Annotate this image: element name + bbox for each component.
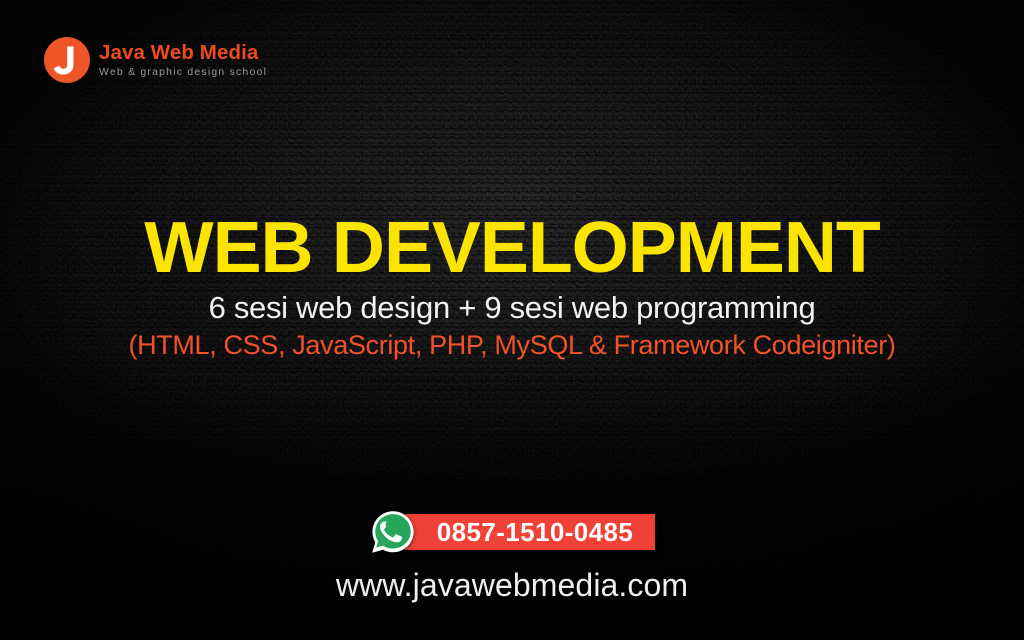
brand-tagline: Web & graphic design school: [99, 66, 267, 79]
whatsapp-contact-row[interactable]: 0857-1510-0485: [369, 508, 655, 556]
brand-logo-text: Java Web Media Web & graphic design scho…: [99, 41, 267, 79]
content-layer: Java Web Media Web & graphic design scho…: [0, 0, 1024, 640]
promo-banner: Java Web Media Web & graphic design scho…: [0, 0, 1024, 640]
hero-text-block: WEB DEVELOPMENT 6 sesi web design + 9 se…: [0, 214, 1024, 361]
whatsapp-icon[interactable]: [369, 508, 417, 556]
letter-j-circle-icon: [44, 37, 90, 83]
hero-subtitle: 6 sesi web design + 9 sesi web programmi…: [0, 290, 1024, 326]
website-url[interactable]: www.javawebmedia.com: [336, 567, 688, 604]
brand-logo[interactable]: Java Web Media Web & graphic design scho…: [44, 37, 267, 83]
brand-name: Java Web Media: [99, 42, 267, 64]
page-title: WEB DEVELOPMENT: [0, 214, 1024, 283]
contact-block: 0857-1510-0485 www.javawebmedia.com: [0, 508, 1024, 604]
phone-number[interactable]: 0857-1510-0485: [405, 514, 655, 550]
hero-tech-list: (HTML, CSS, JavaScript, PHP, MySQL & Fra…: [0, 330, 1024, 361]
